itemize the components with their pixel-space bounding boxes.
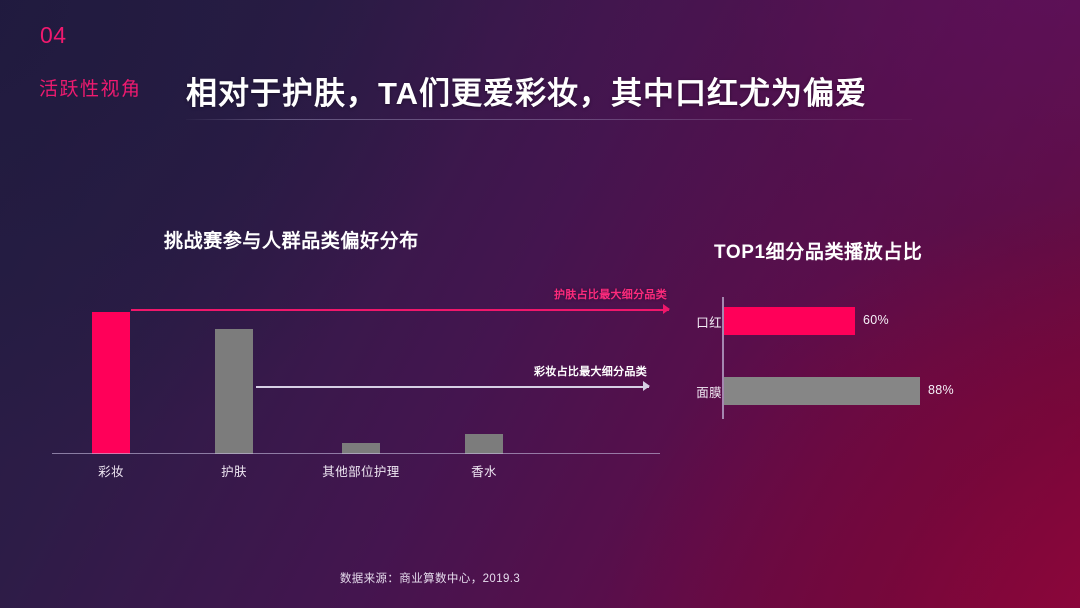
category-preference-chart: 挑战赛参与人群品类偏好分布 彩妆 护肤 其他部位护理 香水 护肤占比最大细分品类…: [0, 0, 690, 608]
bar-fill-kouhong: [724, 307, 855, 335]
left-chart-title: 挑战赛参与人群品类偏好分布: [164, 226, 419, 253]
annotation-line: [256, 386, 649, 388]
left-chart-xticks: 彩妆 护肤 其他部位护理 香水: [52, 461, 664, 485]
data-source-note: 数据来源：商业算数中心，2019.3: [0, 570, 1080, 586]
bar-row-mianmo: 面膜 88%: [690, 377, 1080, 405]
annotation-label: 彩妆占比最大细分品类: [534, 363, 647, 379]
arrow-head-icon: [643, 381, 650, 391]
annotation-line: [131, 309, 669, 311]
left-chart-baseline: [52, 453, 660, 454]
bar-xiangshui: [465, 434, 503, 454]
bar-row-kouhong: 口红 60%: [690, 307, 1080, 335]
annotation-hufu-share: 护肤占比最大细分品类: [131, 300, 669, 318]
bar-value-kouhong: 60%: [863, 313, 889, 327]
right-chart-title: TOP1细分品类播放占比: [714, 237, 922, 264]
xtick-hufu: 护肤: [221, 461, 247, 480]
bar-label-mianmo: 面膜: [696, 382, 722, 401]
xtick-xiangshui: 香水: [471, 461, 497, 480]
xtick-caimei: 彩妆: [98, 461, 124, 480]
xtick-qitabuwei: 其他部位护理: [322, 461, 399, 480]
annotation-label: 护肤占比最大细分品类: [554, 286, 667, 302]
arrow-head-icon: [663, 304, 670, 314]
bar-value-mianmo: 88%: [928, 383, 954, 397]
annotation-caimei-share: 彩妆占比最大细分品类: [256, 377, 649, 395]
bar-hufu: [215, 329, 253, 454]
bar-caimei: [92, 312, 130, 454]
bar-label-kouhong: 口红: [696, 312, 722, 331]
bar-fill-mianmo: [724, 377, 920, 405]
top1-subcategory-chart: TOP1细分品类播放占比 口红 60% 面膜 88%: [690, 0, 1080, 608]
